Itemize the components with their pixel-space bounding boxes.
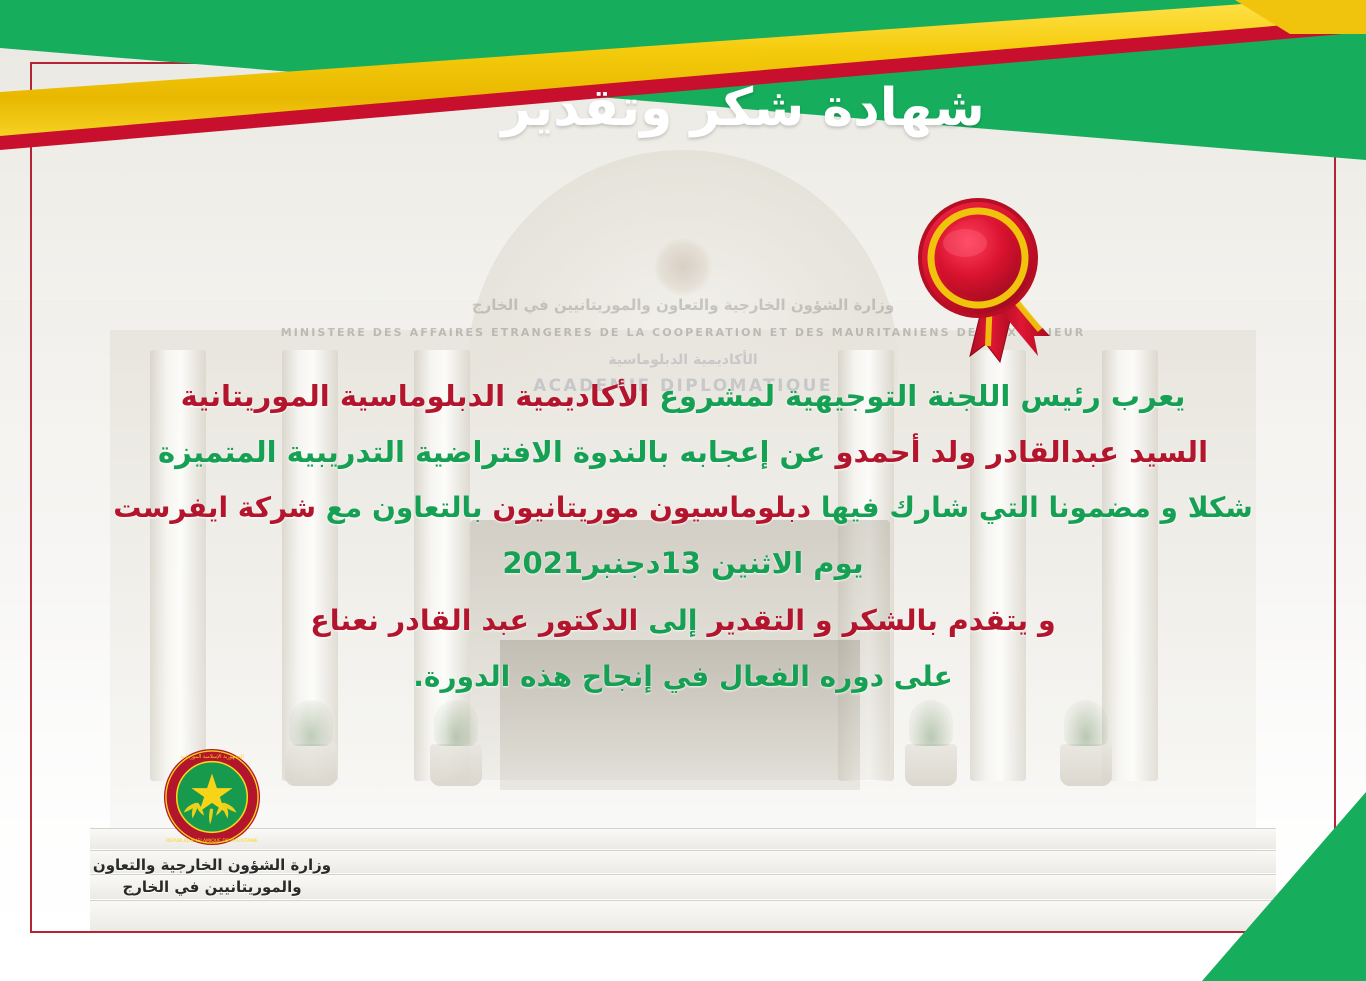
text-segment: دبلوماسيون موريتانيون xyxy=(483,491,812,524)
text-segment: الدكتور عبد القادر نعناع xyxy=(310,604,638,637)
ministry-name: وزارة الشؤون الخارجية والتعاون والموريتا… xyxy=(62,855,362,899)
text-segment: على دوره الفعال في إنجاح هذه الدورة. xyxy=(413,660,952,693)
text-segment: عن إعجابه بالندوة الافتراضية التدريبية ا… xyxy=(158,435,825,469)
certificate-title: شهادة شكر وتقدير xyxy=(0,78,1366,138)
text-segment: يعرب رئيس اللجنة التوجيهية لمشروع xyxy=(649,379,1185,413)
background-planter xyxy=(430,744,482,786)
text-segment: يوم الاثنين 13دجنبر2021 xyxy=(502,546,863,580)
ministry-name-line-2: والموريتانيين في الخارج xyxy=(62,877,362,899)
certificate-line-3: شكلا و مضمونا التي شارك فيها دبلوماسيون … xyxy=(45,494,1321,522)
certificate-footer: الجمهورية الإسلامية الموريتانية REPUBLIQ… xyxy=(62,748,362,899)
background-step xyxy=(90,900,1276,931)
background-planter xyxy=(1060,744,1112,786)
text-segment: شركة ايفرست xyxy=(113,491,316,524)
mauritania-coat-of-arms-icon: الجمهورية الإسلامية الموريتانية REPUBLIQ… xyxy=(163,748,261,846)
certificate-line-2: السيد عبدالقادر ولد أحمدو عن إعجابه بالن… xyxy=(45,438,1321,467)
text-segment: و يتقدم بالشكر و التقدير xyxy=(698,604,1056,637)
certificate-line-1: يعرب رئيس اللجنة التوجيهية لمشروع الأكاد… xyxy=(45,382,1321,411)
emblem-ring-text-ar: الجمهورية الإسلامية الموريتانية xyxy=(180,754,244,760)
emblem-ring-text-fr: REPUBLIQUE ISLAMIQUE DE MAURITANIE xyxy=(166,838,258,844)
text-segment: الأكاديمية الدبلوماسية الموريتانية xyxy=(181,379,649,413)
certificate-body: يعرب رئيس اللجنة التوجيهية لمشروع الأكاد… xyxy=(45,382,1321,691)
background-emblem xyxy=(654,238,712,296)
certificate-line-6: على دوره الفعال في إنجاح هذه الدورة. xyxy=(45,663,1321,691)
text-segment: إلى xyxy=(638,604,697,637)
certificate-line-4: يوم الاثنين 13دجنبر2021 xyxy=(45,549,1321,578)
background-planter xyxy=(905,744,957,786)
certificate-canvas: وزارة الشؤون الخارجية والتعاون والموريتا… xyxy=(0,0,1366,981)
award-rosette-seal xyxy=(900,196,1090,366)
text-segment: بالتعاون مع xyxy=(316,491,483,524)
certificate-line-5: و يتقدم بالشكر و التقدير إلى الدكتور عبد… xyxy=(45,607,1321,636)
text-segment: شكلا و مضمونا التي شارك فيها xyxy=(811,491,1253,524)
text-segment: السيد عبدالقادر ولد أحمدو xyxy=(825,435,1208,469)
ministry-name-line-1: وزارة الشؤون الخارجية والتعاون xyxy=(62,855,362,877)
